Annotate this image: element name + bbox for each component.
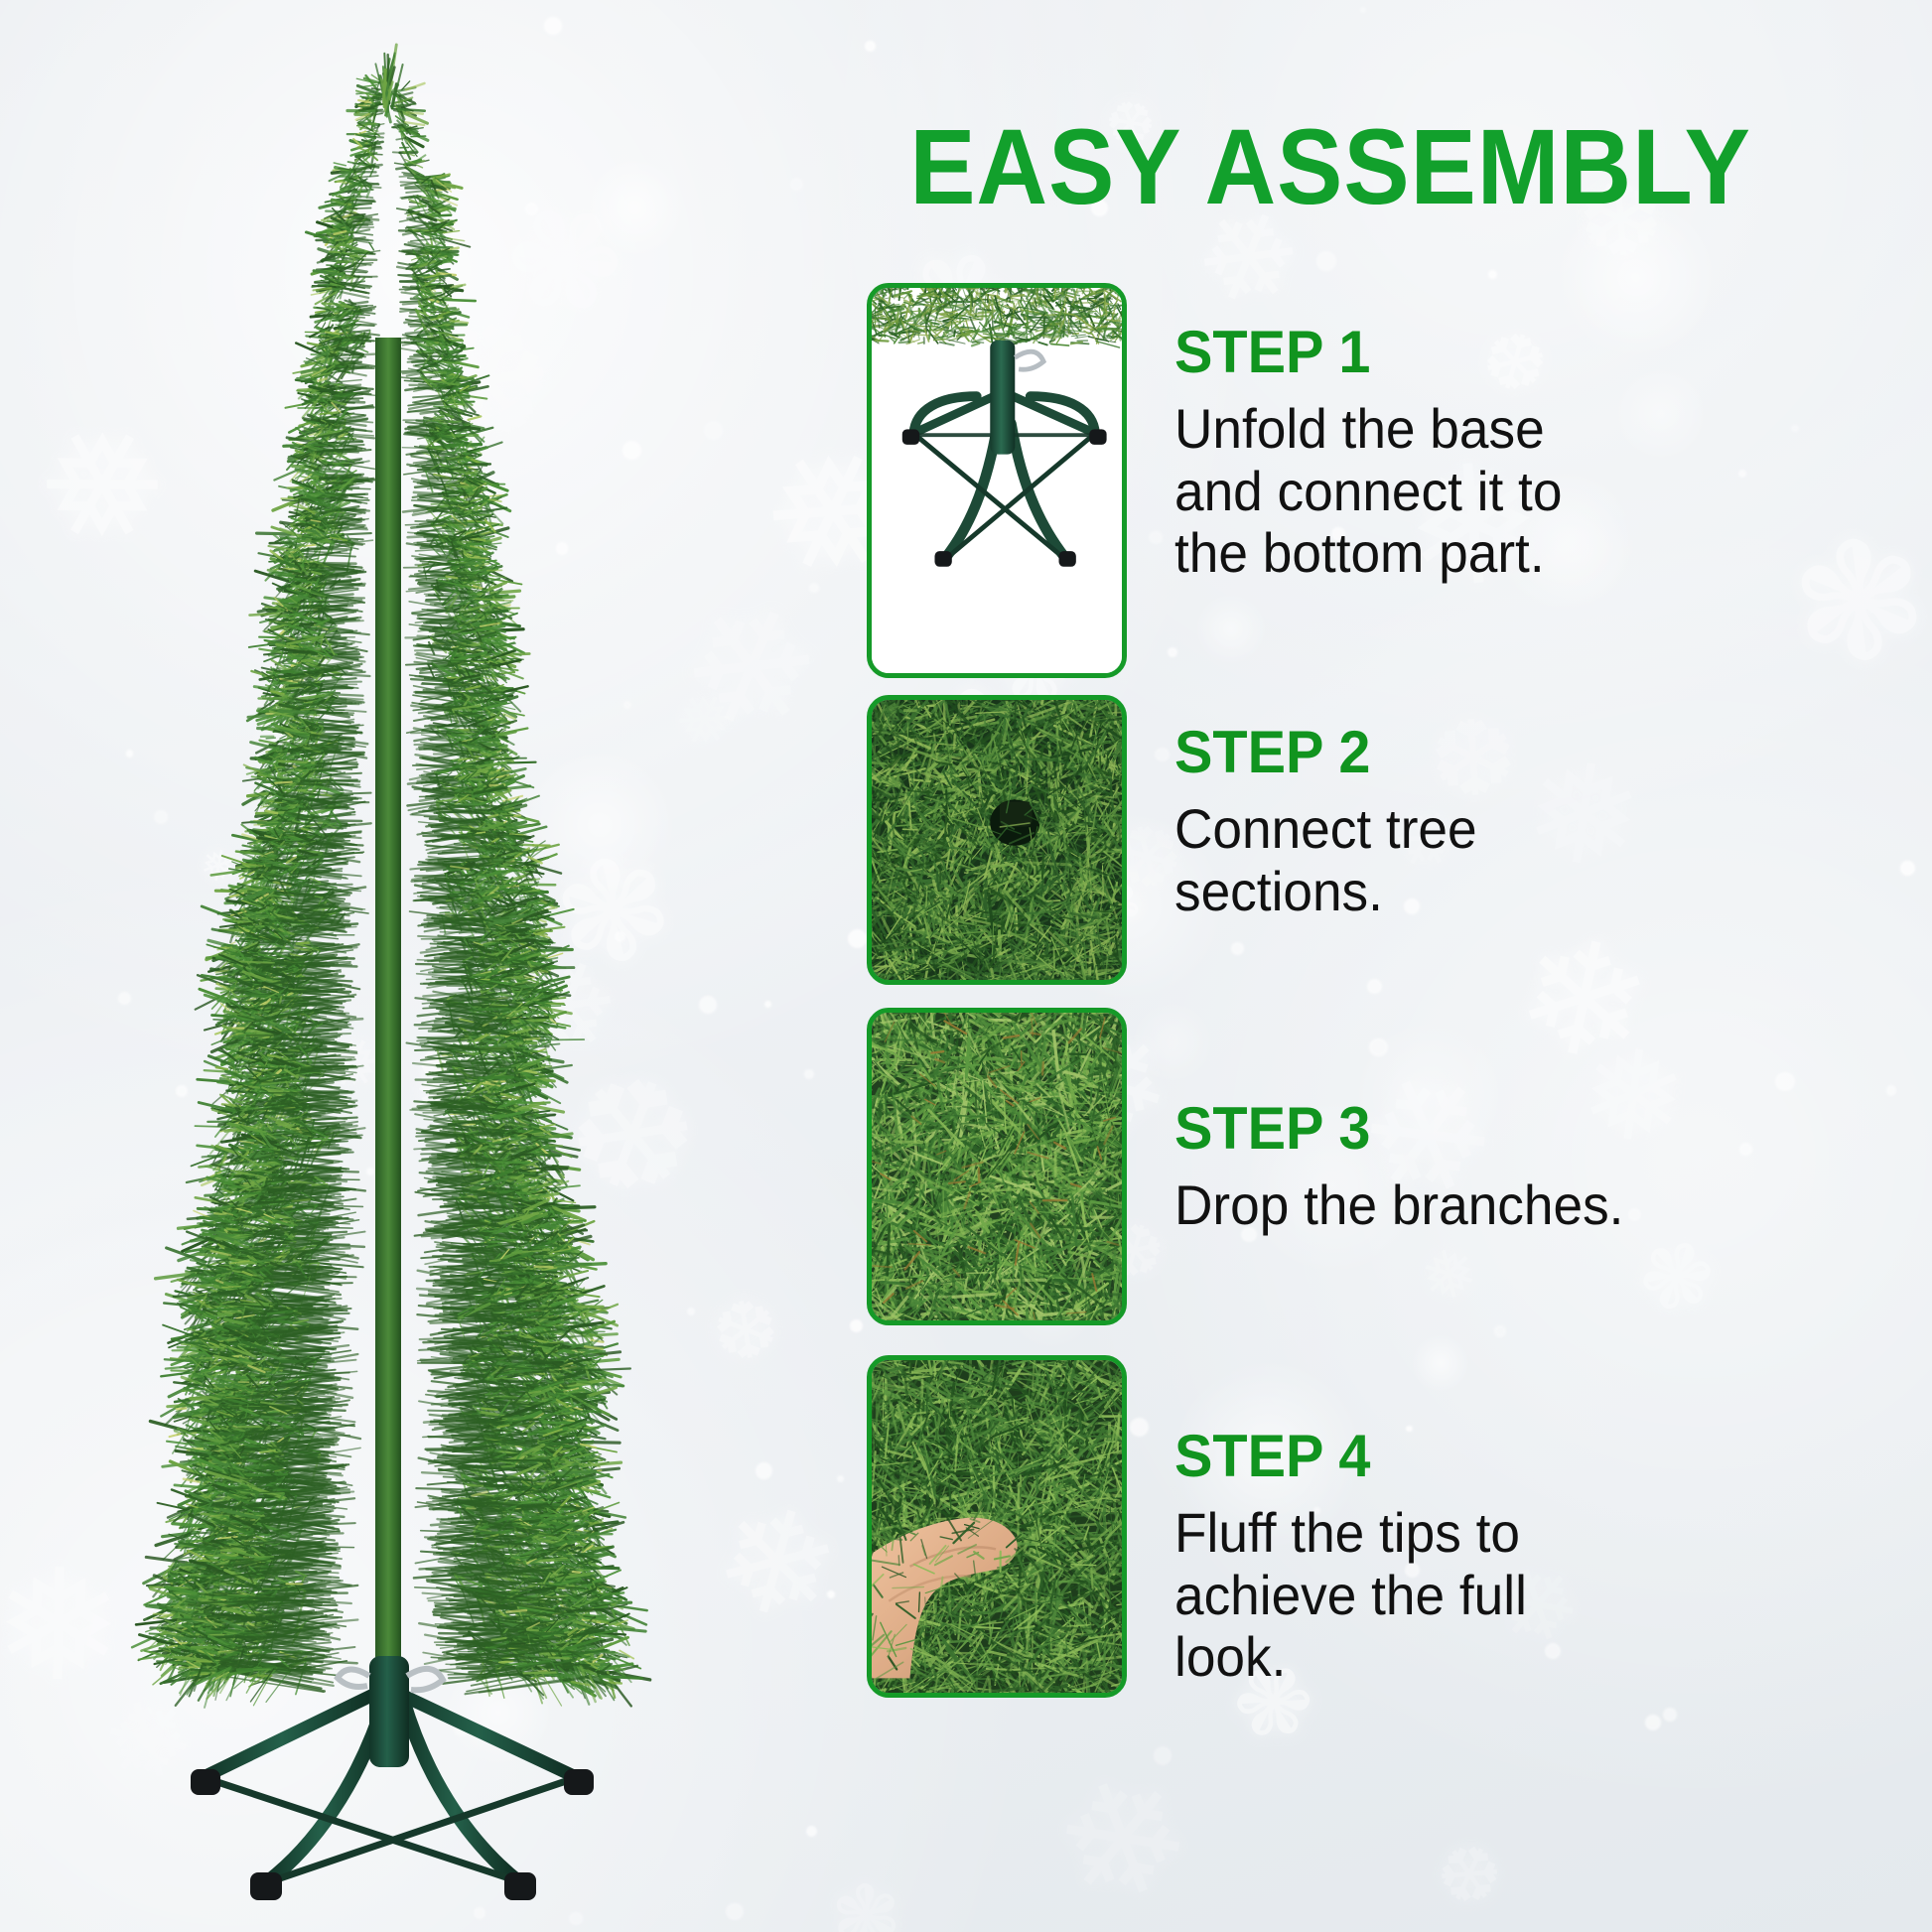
step-1-thumbnail[interactable]	[867, 283, 1127, 678]
step-3-text: STEP 3 Drop the branches.	[1174, 1099, 1730, 1237]
snow-dot	[1154, 1746, 1172, 1764]
step-4-text: STEP 4 Fluff the tips to achieve the ful…	[1174, 1427, 1730, 1689]
snow-glow	[1411, 1333, 1470, 1393]
snowflake-icon: ❃	[1782, 515, 1932, 693]
snow-dot	[1775, 1072, 1795, 1092]
snow-dot	[1645, 1715, 1661, 1730]
snow-dot	[569, 1912, 582, 1925]
snowflake-icon: ❅	[0, 1548, 124, 1704]
step-2-body: Connect tree sections.	[1174, 798, 1703, 922]
step-2-text: STEP 2 Connect tree sections.	[1174, 723, 1730, 922]
snow-dot	[865, 41, 876, 52]
snow-dot	[474, 1907, 485, 1919]
snow-dot	[1149, 531, 1162, 544]
snow-dot	[1738, 470, 1746, 478]
thumbnail-artwork	[872, 288, 1122, 673]
page-title: EASY ASSEMBLY	[800, 104, 1860, 228]
step-1-text: STEP 1 Unfold the base and connect it to…	[1174, 323, 1730, 585]
snow-dot	[1791, 425, 1798, 432]
step-2-thumbnail[interactable]	[867, 695, 1127, 985]
snow-dot	[1130, 1418, 1149, 1437]
snow-dot	[837, 1475, 844, 1482]
step-1-label: STEP 1	[1174, 323, 1709, 382]
snow-dot	[1316, 251, 1336, 271]
snow-dot	[1900, 861, 1915, 876]
snow-dot	[1155, 748, 1169, 761]
step-3-body: Drop the branches.	[1174, 1174, 1703, 1237]
step-4-thumbnail[interactable]	[867, 1355, 1127, 1698]
snow-dot	[827, 1590, 835, 1598]
snowflake-icon: ❃	[829, 1873, 904, 1932]
snow-dot	[726, 1903, 743, 1920]
snowflake-icon: ❆	[707, 1287, 784, 1374]
product-tree-image	[109, 40, 665, 1906]
snow-glow	[1130, 1000, 1215, 1085]
infographic-canvas: ❄❃❆❅❄❃❆❅❄❃❆❅❄❃❆❅❄❃❆❅❄❃❆❅❄❃❆❅❄❃❆❅❄❃❆❅❄❃❆❅…	[0, 0, 1932, 1932]
snow-dot	[687, 1308, 695, 1315]
thumbnail-artwork	[872, 1013, 1122, 1320]
step-1-body: Unfold the base and connect it to the bo…	[1174, 398, 1703, 585]
thumbnail-artwork	[872, 700, 1122, 980]
snow-dot	[850, 1319, 863, 1332]
snow-dot	[848, 929, 867, 948]
step-4-body: Fluff the tips to achieve the full look.	[1174, 1502, 1703, 1689]
snow-dot	[756, 1462, 772, 1479]
step-4-label: STEP 4	[1174, 1427, 1709, 1486]
thumbnail-artwork	[872, 1360, 1122, 1693]
tree-illustration	[109, 40, 665, 1906]
snow-dot	[806, 1826, 817, 1837]
step-3-label: STEP 3	[1174, 1099, 1709, 1159]
tree-stand	[191, 1656, 594, 1900]
step-2-label: STEP 2	[1174, 723, 1709, 782]
step-3-thumbnail[interactable]	[867, 1008, 1127, 1325]
snow-glow	[1194, 593, 1268, 666]
snow-dot	[1494, 1325, 1506, 1337]
